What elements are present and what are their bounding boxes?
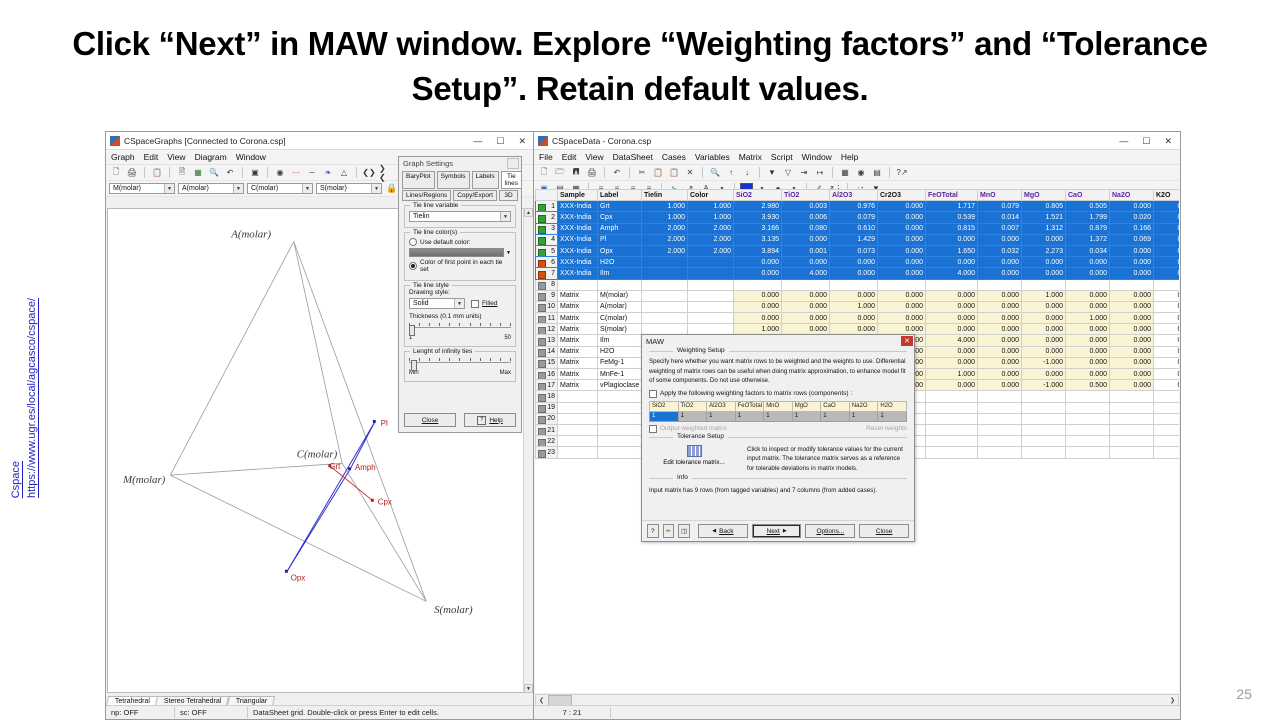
column-header-na2o[interactable]: Na2O [1110, 190, 1154, 201]
table-row[interactable]: 10MatrixA(molar)0.0000.0001.0000.0000.00… [536, 301, 1180, 312]
cell-sample[interactable] [558, 391, 598, 402]
column-header-mno[interactable]: MnO [978, 190, 1022, 201]
cell-na2o[interactable]: 0.000 [1110, 268, 1154, 279]
row-gutter[interactable]: 10 [536, 301, 558, 312]
cell-mno[interactable]: 0.000 [978, 257, 1022, 268]
cell-label[interactable]: Opx [598, 245, 642, 256]
cell-label[interactable] [598, 279, 642, 290]
cell-sample[interactable] [558, 424, 598, 435]
cell-mno[interactable] [978, 391, 1022, 402]
weight-value-SiO2[interactable]: 1 [650, 411, 679, 421]
plot-vertical-scrollbar[interactable]: ▲ ▼ [523, 208, 533, 693]
thickness-slider[interactable] [409, 322, 511, 334]
cell-k2o[interactable]: 0.000 [1154, 324, 1180, 335]
tab-tie-lines[interactable]: Tie lines [501, 171, 522, 189]
cell-mgo[interactable]: 0.000 [1022, 369, 1066, 380]
cell-mgo[interactable] [1022, 413, 1066, 424]
cell-cao[interactable] [1066, 424, 1110, 435]
cell-k2o[interactable] [1154, 279, 1180, 290]
cell-na2o[interactable] [1110, 279, 1154, 290]
cell-sio2[interactable]: 0.000 [734, 290, 782, 301]
table-row[interactable]: 4XXX-IndiaPl2.0002.0003.1350.0001.4290.0… [536, 234, 1180, 245]
cell-cao[interactable]: 0.000 [1066, 335, 1110, 346]
weight-value-H2O[interactable]: 1 [878, 411, 907, 421]
cell-feo[interactable]: 0.000 [926, 380, 978, 391]
cell-feo[interactable]: 0.000 [926, 346, 978, 357]
scroll-right-icon[interactable]: ❯ [1167, 697, 1178, 704]
drawing-style-combo[interactable]: Solid ▼ [409, 298, 465, 309]
close-button[interactable]: Close [859, 524, 909, 538]
cell-label[interactable]: Ilm [598, 335, 642, 346]
grid-icon[interactable]: ▦ [191, 166, 205, 180]
cell-na2o[interactable]: 0.000 [1110, 380, 1154, 391]
menu-matrix[interactable]: Matrix [739, 152, 762, 162]
cell-sample[interactable]: Matrix [558, 346, 598, 357]
zoom-icon[interactable]: 🔍 [207, 166, 221, 180]
cell-tio2[interactable]: 4.000 [782, 268, 830, 279]
cell-tielin[interactable]: 2.000 [642, 234, 688, 245]
cell-label[interactable] [598, 424, 642, 435]
combo-a-molar[interactable]: A(molar) ▼ [178, 183, 244, 194]
weight-value-TiO2[interactable]: 1 [678, 411, 707, 421]
weights-value-row[interactable]: 111111111 [650, 411, 907, 421]
maximize-button[interactable]: ☐ [496, 136, 504, 146]
output-weighted-matrix-checkbox[interactable]: Output weighted matrix [649, 425, 727, 433]
cell-mno[interactable] [978, 402, 1022, 413]
cell-label[interactable]: H2O [598, 257, 642, 268]
copy-icon[interactable]: 📋 [651, 166, 665, 180]
region-icon[interactable]: △ [337, 166, 351, 180]
cell-cr2o3[interactable]: 0.000 [878, 301, 926, 312]
cell-cao[interactable]: 0.000 [1066, 324, 1110, 335]
row-gutter[interactable]: 21 [536, 424, 558, 435]
cell-k2o[interactable]: 0.000 [1154, 268, 1180, 279]
cell-na2o[interactable]: 0.000 [1110, 301, 1154, 312]
cell-cao[interactable]: 0.000 [1066, 301, 1110, 312]
cell-na2o[interactable] [1110, 447, 1154, 458]
cell-na2o[interactable]: 0.166 [1110, 223, 1154, 234]
cell-cao[interactable]: 1.799 [1066, 212, 1110, 223]
cell-feo[interactable]: 4.000 [926, 335, 978, 346]
cell-cr2o3[interactable] [878, 279, 926, 290]
cell-k2o[interactable]: 0.000 [1154, 212, 1180, 223]
cell-sio2[interactable]: 2.980 [734, 201, 782, 212]
cell-label[interactable]: vPlagioclase [598, 380, 642, 391]
chevron-down-icon[interactable]: ▼ [454, 299, 464, 308]
cell-na2o[interactable]: 0.000 [1110, 335, 1154, 346]
cell-na2o[interactable]: 0.000 [1110, 357, 1154, 368]
cell-sio2[interactable]: 3.894 [734, 245, 782, 256]
open-file-icon[interactable]: 🗁 [553, 166, 567, 180]
cell-feo[interactable]: 1.717 [926, 201, 978, 212]
cell-na2o[interactable]: 0.000 [1110, 290, 1154, 301]
cell-sample[interactable]: Matrix [558, 313, 598, 324]
chevron-down-icon[interactable]: ▼ [506, 250, 511, 256]
filter-icon[interactable]: ▼ [765, 166, 779, 180]
weight-value-FeOTotal[interactable]: 1 [735, 411, 764, 421]
cell-sample[interactable]: XXX-India [558, 212, 598, 223]
cell-mno[interactable] [978, 447, 1022, 458]
maximize-button[interactable]: ☐ [1142, 136, 1150, 146]
row-gutter[interactable]: 5 [536, 245, 558, 256]
new-file-icon[interactable]: 🗋 [537, 166, 551, 180]
cell-al2o3[interactable]: 0.976 [830, 201, 878, 212]
filter-clear-icon[interactable]: ▽ [781, 166, 795, 180]
cell-k2o[interactable]: 0.000 [1154, 357, 1180, 368]
weight-value-MgO[interactable]: 1 [792, 411, 821, 421]
symbols-icon[interactable]: ❧ [321, 166, 335, 180]
row-gutter[interactable]: 11 [536, 313, 558, 324]
cell-sio2[interactable]: 0.000 [734, 268, 782, 279]
cell-tielin[interactable] [642, 290, 688, 301]
cell-mno[interactable]: 0.079 [978, 201, 1022, 212]
cell-label[interactable]: H2O [598, 346, 642, 357]
infinity-ties-slider[interactable] [409, 357, 511, 369]
close-button[interactable]: Close [404, 413, 456, 427]
edit-tolerance-matrix-button[interactable]: Edit tolerance matrix... [649, 459, 739, 466]
weight-value-MnO[interactable]: 1 [764, 411, 793, 421]
weight-column-FeOTotal[interactable]: FeOTotal [735, 401, 764, 411]
cell-mno[interactable]: 0.032 [978, 245, 1022, 256]
scroll-down-icon[interactable]: ▼ [524, 684, 533, 693]
cell-label[interactable]: A(molar) [598, 301, 642, 312]
cell-mno[interactable]: 0.000 [978, 301, 1022, 312]
tool-button[interactable]: ✒ [663, 524, 675, 538]
cell-feo[interactable]: 0.000 [926, 313, 978, 324]
cell-tielin[interactable] [642, 257, 688, 268]
cell-cao[interactable]: 1.000 [1066, 313, 1110, 324]
row-gutter[interactable]: 22 [536, 436, 558, 447]
weight-column-Na2O[interactable]: Na2O [849, 401, 878, 411]
row-gutter[interactable]: 14 [536, 346, 558, 357]
cell-cao[interactable] [1066, 391, 1110, 402]
cell-mgo[interactable]: 1.312 [1022, 223, 1066, 234]
tab-lines-regions[interactable]: Lines/Regions [402, 190, 451, 201]
cspace-url-link[interactable]: https://www.ugr.es/local/agcasco/cspace/ [26, 298, 38, 498]
cell-sample[interactable]: Matrix [558, 357, 598, 368]
menu-view[interactable]: View [167, 152, 185, 162]
cell-sample[interactable]: Matrix [558, 324, 598, 335]
cell-mno[interactable]: 0.000 [978, 313, 1022, 324]
column-header-tio2[interactable]: TiO2 [782, 190, 830, 201]
slider-thumb[interactable] [409, 325, 415, 336]
radio-first-point-color[interactable]: Color of first point in each tie set [409, 259, 511, 273]
cell-tielin[interactable] [642, 268, 688, 279]
cell-mgo[interactable]: 0.000 [1022, 346, 1066, 357]
cell-color[interactable]: 1.000 [688, 201, 734, 212]
column-header-color[interactable]: Color [688, 190, 734, 201]
lock-icon[interactable]: 🔒 [385, 182, 399, 196]
cell-cao[interactable]: 0.034 [1066, 245, 1110, 256]
cell-na2o[interactable] [1110, 391, 1154, 402]
cell-mno[interactable]: 0.014 [978, 212, 1022, 223]
cell-cr2o3[interactable]: 0.000 [878, 268, 926, 279]
cell-sample[interactable]: XXX-India [558, 257, 598, 268]
cell-al2o3[interactable]: 0.073 [830, 245, 878, 256]
whats-this-icon[interactable]: ?↗ [895, 166, 909, 180]
cell-k2o[interactable]: 0.000 [1154, 301, 1180, 312]
cell-cao[interactable]: 0.000 [1066, 257, 1110, 268]
cell-mno[interactable]: 0.007 [978, 223, 1022, 234]
print-icon[interactable]: 🖨 [125, 166, 139, 180]
cell-label[interactable] [598, 447, 642, 458]
weight-column-CaO[interactable]: CaO [821, 401, 850, 411]
cell-cr2o3[interactable]: 0.000 [878, 212, 926, 223]
cell-label[interactable]: Amph [598, 223, 642, 234]
cell-mgo[interactable]: 0.000 [1022, 268, 1066, 279]
cell-sio2[interactable] [734, 279, 782, 290]
cell-color[interactable] [688, 257, 734, 268]
append-row-icon[interactable]: ↦ [813, 166, 827, 180]
cell-tio2[interactable] [782, 279, 830, 290]
cell-na2o[interactable]: 0.000 [1110, 257, 1154, 268]
chevron-down-icon[interactable]: ▼ [302, 184, 312, 193]
row-gutter[interactable]: 9 [536, 290, 558, 301]
cell-label[interactable] [598, 402, 642, 413]
insert-row-icon[interactable]: ⇥ [797, 166, 811, 180]
chevron-down-icon[interactable]: ▼ [233, 184, 243, 193]
combo-m-molar[interactable]: M(molar) ▼ [109, 183, 175, 194]
cell-k2o[interactable] [1154, 391, 1180, 402]
row-gutter[interactable]: 6 [536, 257, 558, 268]
cell-mgo[interactable] [1022, 436, 1066, 447]
cell-cao[interactable]: 0.505 [1066, 201, 1110, 212]
cell-mno[interactable]: 0.000 [978, 335, 1022, 346]
table-row[interactable]: 11MatrixC(molar)0.0000.0000.0000.0000.00… [536, 313, 1180, 324]
cell-k2o[interactable]: 0.000 [1154, 313, 1180, 324]
cell-sample[interactable]: Matrix [558, 369, 598, 380]
cell-mgo[interactable]: 0.000 [1022, 335, 1066, 346]
cell-cr2o3[interactable]: 0.000 [878, 245, 926, 256]
report-icon[interactable]: ▤ [870, 166, 884, 180]
cell-feo[interactable]: 0.000 [926, 234, 978, 245]
cell-tielin[interactable]: 2.000 [642, 245, 688, 256]
cell-feo[interactable]: 0.000 [926, 301, 978, 312]
cell-feo[interactable] [926, 447, 978, 458]
tab-3d[interactable]: 3D [499, 190, 518, 201]
cell-sample[interactable]: XXX-India [558, 268, 598, 279]
cell-tielin[interactable]: 1.000 [642, 201, 688, 212]
table-row[interactable]: 3XXX-IndiaAmph2.0002.0003.1660.0800.6100… [536, 223, 1180, 234]
cell-mno[interactable]: 0.000 [978, 324, 1022, 335]
maw-icon[interactable]: ◉ [854, 166, 868, 180]
weight-column-TiO2[interactable]: TiO2 [678, 401, 707, 411]
cell-tio2[interactable]: 0.001 [782, 245, 830, 256]
cell-mno[interactable]: 0.000 [978, 357, 1022, 368]
cell-k2o[interactable]: 0.000 [1154, 369, 1180, 380]
cell-mgo[interactable]: 1.521 [1022, 212, 1066, 223]
weight-column-SiO2[interactable]: SiO2 [650, 401, 679, 411]
cell-mgo[interactable]: 0.805 [1022, 201, 1066, 212]
tieline-icon[interactable]: ∼ [305, 166, 319, 180]
cell-tio2[interactable]: 0.000 [782, 257, 830, 268]
cell-al2o3[interactable]: 0.079 [830, 212, 878, 223]
cell-color[interactable]: 1.000 [688, 212, 734, 223]
cell-sample[interactable]: XXX-India [558, 201, 598, 212]
cell-color[interactable] [688, 301, 734, 312]
menu-file[interactable]: File [539, 152, 553, 162]
cell-sample[interactable]: XXX-India [558, 223, 598, 234]
cell-al2o3[interactable]: 1.429 [830, 234, 878, 245]
matrix-icon[interactable]: ▦ [838, 166, 852, 180]
cell-cao[interactable] [1066, 402, 1110, 413]
cell-color[interactable] [688, 313, 734, 324]
cell-color[interactable]: 2.000 [688, 223, 734, 234]
cell-sio2[interactable]: 3.135 [734, 234, 782, 245]
cell-feo[interactable] [926, 413, 978, 424]
cspace-link[interactable]: Cspace [10, 461, 22, 498]
cell-mno[interactable]: 0.000 [978, 346, 1022, 357]
new-icon[interactable]: 🗋 [109, 166, 123, 180]
table-row[interactable]: 5XXX-IndiaOpx2.0002.0003.8940.0010.0730.… [536, 245, 1180, 256]
cell-na2o[interactable]: 0.000 [1110, 245, 1154, 256]
cell-mno[interactable]: 0.000 [978, 268, 1022, 279]
cell-label[interactable]: M(molar) [598, 290, 642, 301]
row-gutter[interactable]: 1 [536, 201, 558, 212]
cell-mgo[interactable]: 0.000 [1022, 257, 1066, 268]
weight-value-Al2O3[interactable]: 1 [707, 411, 736, 421]
save-icon[interactable]: 🖪 [569, 166, 583, 180]
cell-cr2o3[interactable]: 0.000 [878, 257, 926, 268]
row-gutter[interactable]: 13 [536, 335, 558, 346]
row-gutter[interactable]: 12 [536, 324, 558, 335]
cell-color[interactable] [688, 279, 734, 290]
cell-label[interactable]: Pl [598, 234, 642, 245]
table-row[interactable]: 6XXX-IndiaH2O0.0000.0000.0000.0000.0000.… [536, 257, 1180, 268]
close-button[interactable]: ✕ [1164, 136, 1172, 146]
cell-cao[interactable]: 0.000 [1066, 290, 1110, 301]
row-gutter[interactable]: 20 [536, 413, 558, 424]
column-header-tielin[interactable]: Tielin [642, 190, 688, 201]
cell-na2o[interactable] [1110, 413, 1154, 424]
cell-k2o[interactable]: 0.000 [1154, 234, 1180, 245]
rotate-right-icon[interactable]: ❯❮ [378, 166, 392, 180]
cell-al2o3[interactable] [830, 279, 878, 290]
cell-tio2[interactable]: 0.000 [782, 290, 830, 301]
cell-tielin[interactable]: 1.000 [642, 212, 688, 223]
row-gutter[interactable]: 8 [536, 279, 558, 290]
menu-variables[interactable]: Variables [695, 152, 730, 162]
cell-k2o[interactable]: 0.000 [1154, 380, 1180, 391]
cell-sample[interactable]: XXX-India [558, 234, 598, 245]
cell-sample[interactable] [558, 402, 598, 413]
default-color-swatch[interactable] [409, 248, 504, 257]
cell-na2o[interactable]: 0.000 [1110, 201, 1154, 212]
row-gutter[interactable]: 17 [536, 380, 558, 391]
cell-mgo[interactable]: 2.273 [1022, 245, 1066, 256]
menu-edit[interactable]: Edit [144, 152, 159, 162]
copy-icon[interactable]: 📋 [150, 166, 164, 180]
rotate-left-icon[interactable]: ❮❯ [362, 166, 376, 180]
cell-sample[interactable] [558, 447, 598, 458]
tab-copy-export[interactable]: Copy/Export [453, 190, 497, 201]
column-header-cr2o3[interactable]: Cr2O3 [878, 190, 926, 201]
row-gutter[interactable]: 3 [536, 223, 558, 234]
cell-cao[interactable] [1066, 436, 1110, 447]
column-header-al2o3[interactable]: Al2O3 [830, 190, 878, 201]
cell-na2o[interactable]: 0.000 [1110, 313, 1154, 324]
column-header-sio2[interactable]: SiO2 [734, 190, 782, 201]
cell-cao[interactable] [1066, 279, 1110, 290]
scrollbar-thumb[interactable] [548, 695, 572, 706]
cell-mgo[interactable] [1022, 424, 1066, 435]
menu-graph[interactable]: Graph [111, 152, 135, 162]
cell-na2o[interactable] [1110, 424, 1154, 435]
cell-al2o3[interactable]: 0.000 [830, 268, 878, 279]
cell-na2o[interactable]: 0.000 [1110, 346, 1154, 357]
print-icon[interactable]: 🖨 [585, 166, 599, 180]
combo-s-molar[interactable]: S(molar) ▼ [316, 183, 382, 194]
cell-cr2o3[interactable]: 0.000 [878, 234, 926, 245]
cell-sample[interactable]: XXX-India [558, 245, 598, 256]
cell-mgo[interactable]: 0.000 [1022, 313, 1066, 324]
cell-mgo[interactable]: 0.000 [1022, 324, 1066, 335]
row-gutter[interactable]: 7 [536, 268, 558, 279]
menu-datasheet[interactable]: DataSheet [613, 152, 653, 162]
cell-tio2[interactable]: 0.000 [782, 301, 830, 312]
cell-mno[interactable]: 0.000 [978, 380, 1022, 391]
cell-k2o[interactable]: 0.000 [1154, 257, 1180, 268]
cell-label[interactable] [598, 436, 642, 447]
cell-k2o[interactable]: 0.000 [1154, 223, 1180, 234]
tab-baryplot[interactable]: BaryPlot [402, 171, 435, 189]
undo-icon[interactable]: ↶ [610, 166, 624, 180]
minimize-button[interactable]: — [473, 136, 482, 146]
cell-sio2[interactable]: 0.000 [734, 257, 782, 268]
weight-value-CaO[interactable]: 1 [821, 411, 850, 421]
cell-mgo[interactable] [1022, 447, 1066, 458]
cell-sio2[interactable]: 0.000 [734, 313, 782, 324]
delete-icon[interactable]: ✕ [683, 166, 697, 180]
cell-cr2o3[interactable]: 0.000 [878, 201, 926, 212]
menu-view[interactable]: View [585, 152, 603, 162]
cell-tielin[interactable]: 2.000 [642, 223, 688, 234]
menu-edit[interactable]: Edit [562, 152, 577, 162]
table-row[interactable]: 8 [536, 279, 1180, 290]
cell-mgo[interactable]: 0.000 [1022, 234, 1066, 245]
undo-zoom-icon[interactable]: ↶ [223, 166, 237, 180]
back-button[interactable]: ◀ Back [698, 524, 748, 538]
projection-icon[interactable]: ◉ [273, 166, 287, 180]
cell-feo[interactable] [926, 391, 978, 402]
cell-k2o[interactable]: 0.000 [1154, 201, 1180, 212]
table-row[interactable]: 1XXX-IndiaGrt1.0001.0002.9800.0030.9760.… [536, 201, 1180, 212]
cell-cr2o3[interactable]: 0.000 [878, 223, 926, 234]
cell-color[interactable]: 2.000 [688, 234, 734, 245]
cell-na2o[interactable]: 0.020 [1110, 212, 1154, 223]
cell-cao[interactable]: 0.879 [1066, 223, 1110, 234]
table-row[interactable]: 2XXX-IndiaCpx1.0001.0003.9300.0060.0790.… [536, 212, 1180, 223]
cell-al2o3[interactable]: 0.000 [830, 313, 878, 324]
weight-value-Na2O[interactable]: 1 [849, 411, 878, 421]
cell-label[interactable] [598, 391, 642, 402]
cell-mgo[interactable]: 1.000 [1022, 290, 1066, 301]
cell-cao[interactable]: 0.000 [1066, 357, 1110, 368]
cell-k2o[interactable]: 0.000 [1154, 346, 1180, 357]
cell-na2o[interactable]: 0.069 [1110, 234, 1154, 245]
cell-feo[interactable]: 1.650 [926, 245, 978, 256]
cell-mno[interactable] [978, 424, 1022, 435]
weight-column-Al2O3[interactable]: Al2O3 [707, 401, 736, 411]
menu-script[interactable]: Script [771, 152, 793, 162]
cell-cao[interactable]: 1.372 [1066, 234, 1110, 245]
cell-mno[interactable] [978, 436, 1022, 447]
cell-k2o[interactable]: 0.000 [1154, 290, 1180, 301]
scroll-up-icon[interactable]: ▲ [524, 208, 533, 217]
cell-color[interactable]: 2.000 [688, 245, 734, 256]
cell-sample[interactable] [558, 436, 598, 447]
chevron-down-icon[interactable]: ▼ [371, 184, 381, 193]
